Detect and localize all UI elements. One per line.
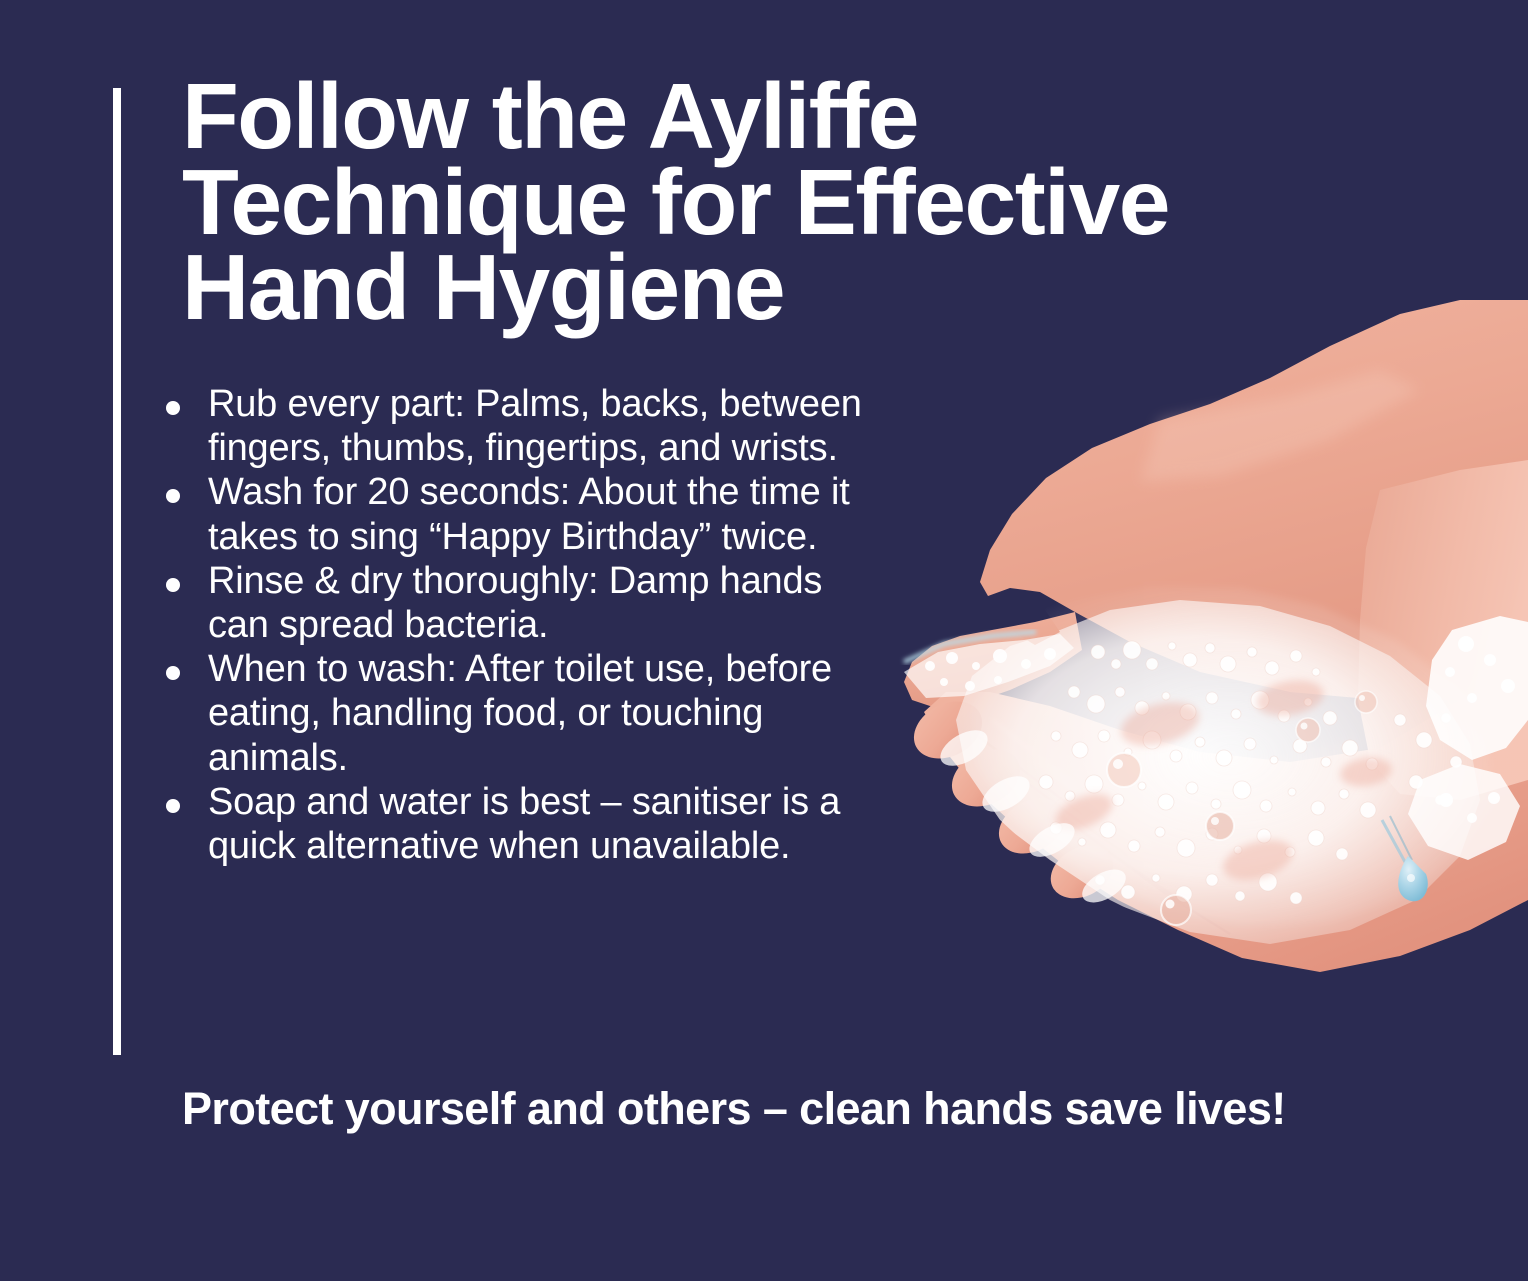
- poster-canvas: Follow the Ayliffe Technique for Effecti…: [0, 0, 1528, 1281]
- bullet-dot-icon: [166, 799, 180, 813]
- list-item-label: Soap and water is best – sanitiser is a …: [208, 780, 875, 868]
- list-item: Soap and water is best – sanitiser is a …: [155, 780, 875, 868]
- list-item: Rub every part: Palms, backs, between fi…: [155, 382, 875, 470]
- call-to-action-text: Protect yourself and others – clean hand…: [182, 1083, 1432, 1134]
- water-droplet: [1382, 816, 1428, 901]
- list-item: Wash for 20 seconds: About the time it t…: [155, 470, 875, 558]
- soapy-hands-photo: [860, 300, 1528, 1020]
- bullet-dot-icon: [166, 489, 180, 503]
- list-item: Rinse & dry thoroughly: Damp hands can s…: [155, 559, 875, 647]
- list-item: When to wash: After toilet use, before e…: [155, 647, 875, 780]
- bullet-dot-icon: [166, 401, 180, 415]
- list-item-label: Rub every part: Palms, backs, between fi…: [208, 382, 875, 470]
- bullet-dot-icon: [166, 666, 180, 680]
- list-item-label: Rinse & dry thoroughly: Damp hands can s…: [208, 559, 875, 647]
- list-item-label: Wash for 20 seconds: About the time it t…: [208, 470, 875, 558]
- bullet-dot-icon: [166, 578, 180, 592]
- page-title: Follow the Ayliffe Technique for Effecti…: [182, 74, 1362, 331]
- vertical-accent-rule: [113, 88, 121, 1055]
- list-item-label: When to wash: After toilet use, before e…: [208, 647, 875, 780]
- hygiene-tips-list: Rub every part: Palms, backs, between fi…: [155, 382, 875, 868]
